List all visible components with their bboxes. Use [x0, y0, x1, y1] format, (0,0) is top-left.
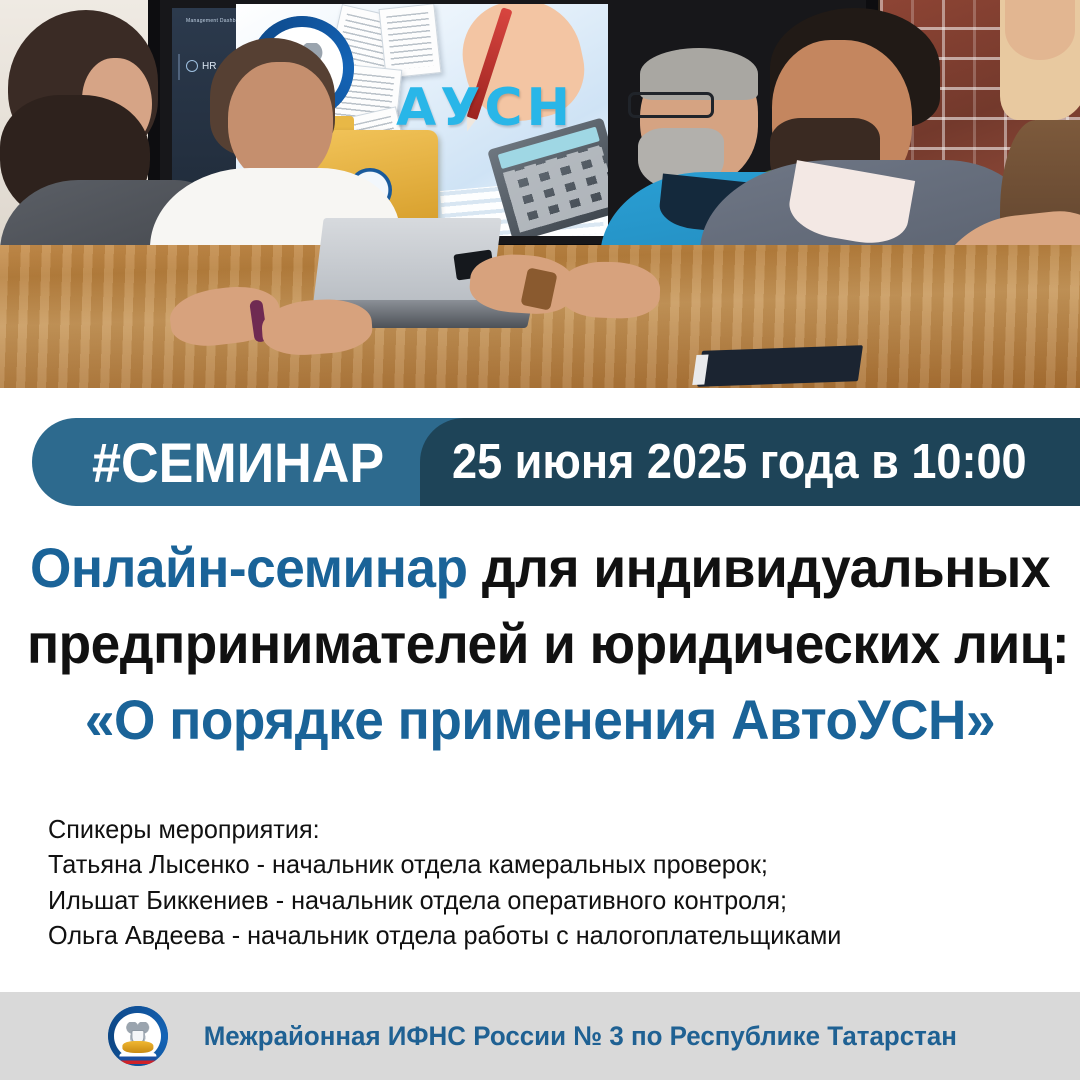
event-datetime: 25 июня 2025 года в 10:00 — [452, 418, 1027, 506]
glasses-icon — [628, 92, 714, 118]
headline-line-1: Онлайн-семинар для индивидуальных — [27, 540, 1053, 596]
hero-photo: Management Dashboard HR АУСН — [0, 0, 1080, 388]
speaker-item: Ильшат Биккениев - начальник отдела опер… — [48, 883, 1008, 918]
headline-line-2: предпринимателей и юридических лиц: — [27, 616, 1053, 672]
dashboard-divider — [178, 54, 180, 80]
dashboard-hr-item: HR — [186, 60, 216, 72]
seminar-hashtag: #СЕМИНАР — [92, 418, 384, 506]
headline-block: Онлайн-семинар для индивидуальных предпр… — [0, 540, 1080, 748]
speaker-item: Татьяна Лысенко - начальник отдела камер… — [48, 847, 1008, 882]
notebook — [697, 345, 863, 387]
fns-emblem-footer — [108, 1006, 168, 1066]
dashboard-hr-label: HR — [202, 61, 216, 72]
headline-accent: Онлайн-семинар — [30, 536, 468, 599]
russian-flag-icon — [119, 1053, 156, 1063]
hr-icon — [186, 60, 198, 72]
headline-rest: для индивидуальных — [468, 536, 1050, 599]
person-chin — [1005, 0, 1075, 60]
person-face — [228, 62, 333, 184]
emblem-gold-band — [122, 1041, 153, 1053]
speaker-item: Ольга Авдеева - начальник отдела работы … — [48, 918, 1008, 953]
speakers-title: Спикеры мероприятия: — [48, 812, 1008, 847]
event-banner: #СЕМИНАР 25 июня 2025 года в 10:00 — [32, 418, 1080, 506]
headline-line-3: «О порядке применения АвтоУСН» — [27, 692, 1053, 748]
hand — [559, 260, 661, 319]
footer-bar: Межрайонная ИФНС России № 3 по Республик… — [0, 992, 1080, 1080]
speakers-block: Спикеры мероприятия: Татьяна Лысенко - н… — [48, 812, 1038, 953]
screen-heading: АУСН — [396, 78, 574, 138]
footer-organization: Межрайонная ИФНС России № 3 по Республик… — [203, 1021, 956, 1052]
